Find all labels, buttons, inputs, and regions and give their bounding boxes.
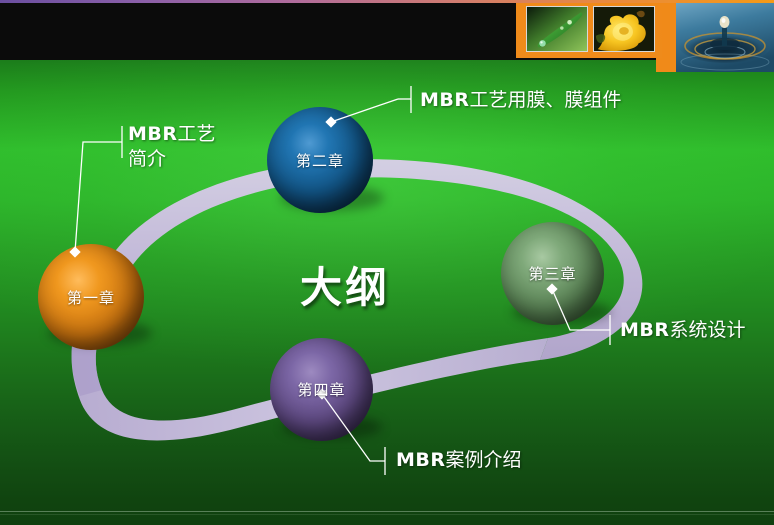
sphere-label-chapter-1: 第一章 bbox=[67, 287, 115, 308]
presentation-slide: 第一章 第二章 第三章 第四章 bbox=[0, 0, 774, 525]
sphere-chapter-4[interactable]: 第四章 bbox=[270, 338, 373, 441]
sphere-chapter-2[interactable]: 第二章 bbox=[267, 107, 373, 213]
page-title: 大纲 bbox=[300, 254, 390, 315]
label-chapter-2-text: 工艺用膜、膜组件 bbox=[470, 89, 622, 111]
sphere-label-chapter-4: 第四章 bbox=[297, 379, 345, 400]
yellow-flower-photo bbox=[593, 6, 655, 52]
bottom-divider-line-secondary bbox=[0, 514, 774, 515]
label-chapter-1: MBR工艺 简介 bbox=[128, 122, 216, 172]
leaf-dewdrop-photo bbox=[526, 6, 588, 52]
sphere-chapter-3[interactable]: 第三章 bbox=[501, 222, 604, 325]
bottom-divider-line bbox=[0, 511, 774, 512]
label-chapter-1-text: 工艺 bbox=[178, 123, 216, 145]
label-chapter-4-text: 案例介绍 bbox=[446, 449, 522, 471]
water-droplet-photo bbox=[676, 2, 774, 72]
label-chapter-3-prefix: MBR bbox=[620, 319, 670, 341]
sphere-label-chapter-2: 第二章 bbox=[296, 150, 344, 171]
sphere-chapter-1[interactable]: 第一章 bbox=[38, 244, 144, 350]
label-chapter-1-line2: 简介 bbox=[128, 148, 166, 170]
label-chapter-1-prefix: MBR bbox=[128, 123, 178, 145]
label-chapter-2: MBR工艺用膜、膜组件 bbox=[420, 88, 622, 113]
label-chapter-4: MBR案例介绍 bbox=[396, 448, 522, 473]
label-chapter-2-prefix: MBR bbox=[420, 89, 470, 111]
top-gradient-rule bbox=[0, 0, 774, 3]
sphere-label-chapter-3: 第三章 bbox=[528, 263, 576, 284]
label-chapter-3-text: 系统设计 bbox=[670, 319, 746, 341]
label-chapter-3: MBR系统设计 bbox=[620, 318, 746, 343]
label-chapter-4-prefix: MBR bbox=[396, 449, 446, 471]
